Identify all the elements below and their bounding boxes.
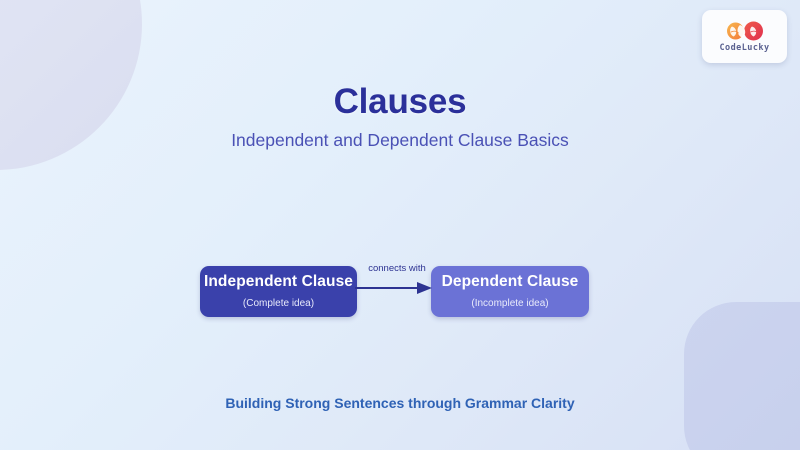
- clause-diagram: Independent Clause (Complete idea) Depen…: [0, 0, 800, 450]
- diagram-node-independent-clause[interactable]: Independent Clause (Complete idea): [200, 266, 357, 317]
- connector-label: connects with: [357, 264, 437, 274]
- node-title: Dependent Clause: [442, 274, 579, 290]
- node-title: Independent Clause: [204, 274, 353, 290]
- node-subtitle: (Incomplete idea): [471, 299, 548, 309]
- right-arrow-icon: [417, 282, 432, 294]
- connector-arrow: [355, 278, 435, 298]
- diagram-node-dependent-clause[interactable]: Dependent Clause (Incomplete idea): [431, 266, 589, 317]
- node-subtitle: (Complete idea): [243, 299, 314, 309]
- slide-canvas: CodeLucky Clauses Independent and Depend…: [0, 0, 800, 450]
- footer-tagline: Building Strong Sentences through Gramma…: [0, 395, 800, 411]
